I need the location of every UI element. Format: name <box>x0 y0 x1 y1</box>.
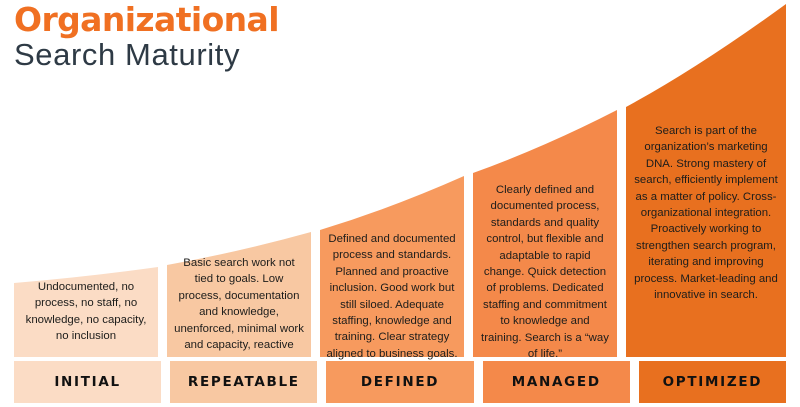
level-label-optimized[interactable]: OPTIMIZED <box>639 361 786 403</box>
column-description-repeatable: Basic search work not tied to goals. Low… <box>167 255 311 357</box>
title-line-organizational: Organizational <box>14 2 614 38</box>
column-description-managed: Clearly defined and documented process, … <box>473 182 617 357</box>
level-label-repeatable[interactable]: REPEATABLE <box>170 361 317 403</box>
search-maturity-infographic: Organizational Search Maturity Undocumen… <box>0 0 800 407</box>
column-description-initial: Undocumented, no process, no staff, no k… <box>14 279 158 357</box>
maturity-level-label-bar: INITIAL REPEATABLE DEFINED MANAGED OPTIM… <box>0 361 800 403</box>
column-description-optimized: Search is part of the organization’s mar… <box>626 123 786 357</box>
level-label-defined[interactable]: DEFINED <box>326 361 473 403</box>
level-label-managed[interactable]: MANAGED <box>483 361 630 403</box>
title-line-search-maturity: Search Maturity <box>14 38 614 73</box>
level-label-initial[interactable]: INITIAL <box>14 361 161 403</box>
page-title: Organizational Search Maturity <box>14 2 614 72</box>
column-description-defined: Defined and documented process and stand… <box>320 231 464 357</box>
